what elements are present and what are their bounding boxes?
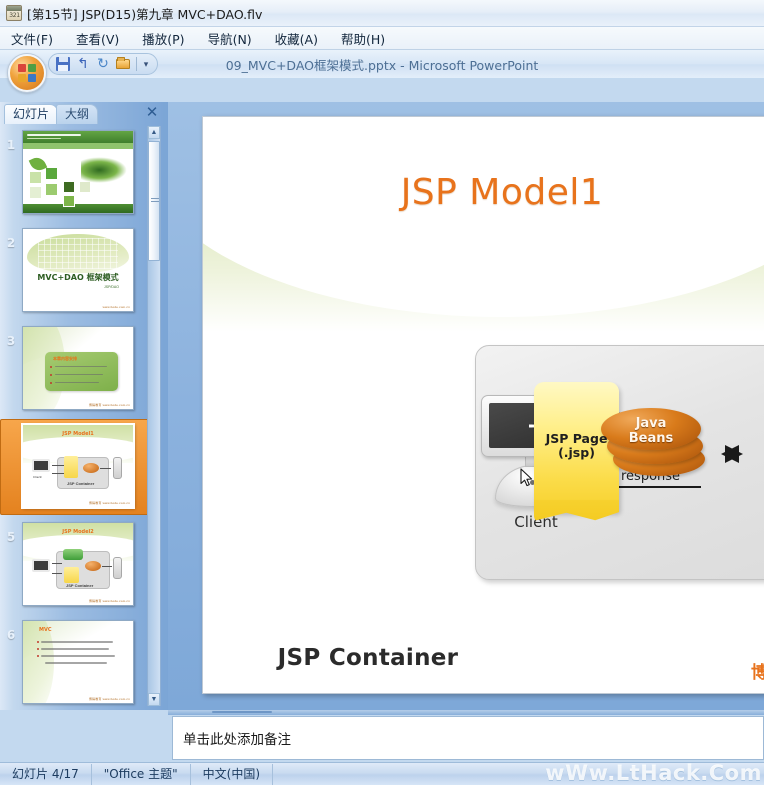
status-slide-counter[interactable]: 幻灯片 4/17 (0, 764, 92, 785)
status-theme[interactable]: "Office 主题" (92, 764, 191, 785)
java-beans-label: Java Beans (601, 416, 701, 446)
redo-button[interactable]: ↻ (94, 55, 112, 73)
menu-navigate[interactable]: 导航(N) (205, 28, 255, 49)
slide-editing-stage: JSP Model1 JSP Container Client (168, 102, 764, 710)
java-beans-line2: Beans (629, 431, 674, 446)
open-folder-icon (116, 59, 130, 69)
thumbnail-title: JSP Model1 (23, 431, 133, 437)
thumbnail-number: 2 (0, 226, 22, 250)
notes-placeholder[interactable]: 单击此处添加备注 (183, 728, 291, 748)
menu-file[interactable]: 文件(F) (8, 28, 56, 49)
thumbnail-number: 4 (0, 422, 22, 446)
powerpoint-main-body: 幻灯片 大纲 ✕ 1 (0, 102, 764, 710)
list-item[interactable]: 6 MVC 博得教育 www.bode.com.cn (0, 618, 152, 710)
redo-icon: ↻ (96, 57, 110, 71)
chevron-down-icon[interactable]: ▾ (141, 55, 151, 73)
video-file-icon (6, 5, 22, 21)
mouse-cursor (520, 468, 534, 488)
undo-button[interactable]: ↰ (74, 55, 92, 73)
slide-thumbnail-selected[interactable]: JSP Model1 JSP Container Client 博得教育 www… (22, 424, 134, 508)
thumbnail-number: 3 (0, 324, 22, 348)
thumbnail-list[interactable]: 1 (0, 124, 168, 710)
application-window: [第15节] JSP(D15)第九章 MVC+DAO.flv 文件(F) 查看(… (0, 0, 764, 785)
java-beans-line1: Java (636, 416, 667, 431)
menu-favorites[interactable]: 收藏(A) (272, 28, 321, 49)
player-menu-bar: 文件(F) 查看(V) 播放(P) 导航(N) 收藏(A) 帮助(H) (0, 27, 764, 50)
slides-panel-scrollbar[interactable]: ▲ ▼ (147, 126, 161, 706)
menu-play[interactable]: 播放(P) (139, 28, 187, 49)
office-orb-icon (18, 64, 36, 82)
java-beans-shape: Java Beans (601, 402, 731, 492)
tab-slides[interactable]: 幻灯片 (4, 104, 58, 124)
jsp-model1-diagram[interactable]: JSP Container Client (203, 117, 764, 693)
player-title-bar: [第15节] JSP(D15)第九章 MVC+DAO.flv (0, 0, 764, 27)
slide-thumbnail[interactable]: MVC+DAO 框架模式 JSP/DAO www.bode.com.cn (22, 228, 134, 312)
slide-thumbnail[interactable]: JSP Model2 JSP Container 博得教育 www.bode.c… (22, 522, 134, 606)
office-orb-button[interactable] (8, 54, 46, 92)
thumbnail-title: MVC (39, 627, 133, 633)
status-language[interactable]: 中文(中国) (191, 764, 273, 785)
list-item[interactable]: 1 (0, 128, 152, 222)
grip-icon (151, 198, 159, 204)
thumbnail-number: 5 (0, 520, 22, 544)
thumbnail-title: JSP Model2 (23, 529, 133, 535)
list-item[interactable]: 2 MVC+DAO 框架模式 JSP/DAO www.bode.com.cn (0, 226, 152, 320)
save-button[interactable] (54, 55, 72, 73)
tab-outline[interactable]: 大纲 (56, 104, 98, 124)
thumbnail-number: 1 (0, 128, 22, 152)
panel-tab-strip: 幻灯片 大纲 ✕ (0, 102, 168, 124)
status-bar: 幻灯片 4/17 "Office 主题" 中文(中国) wWw.LtHack.C… (0, 762, 764, 785)
scroll-down-icon[interactable]: ▼ (148, 693, 160, 706)
close-icon[interactable]: ✕ (143, 103, 161, 121)
site-watermark: wWw.LtHack.Com (545, 761, 762, 785)
quick-access-toolbar: ↰ ↻ ▾ (48, 53, 158, 75)
jsp-page-line1: JSP Page (546, 431, 608, 446)
slides-panel: 幻灯片 大纲 ✕ 1 (0, 102, 168, 710)
open-button[interactable] (114, 55, 132, 73)
menu-view[interactable]: 查看(V) (73, 28, 122, 49)
jsp-page-line2: (.jsp) (558, 445, 595, 460)
thumbnail-title: MVC+DAO 框架模式 (23, 272, 133, 283)
slide-footer-logo: 博得 (751, 658, 764, 683)
list-item[interactable]: 3 本章内容安排 博得教育 www.bod (0, 324, 152, 418)
scrollbar-thumb[interactable] (148, 141, 160, 261)
player-title-text: [第15节] JSP(D15)第九章 MVC+DAO.flv (27, 4, 262, 23)
slide-thumbnail[interactable]: MVC 博得教育 www.bode.com.cn (22, 620, 134, 704)
list-item[interactable]: 5 JSP Model2 JSP Container (0, 520, 152, 614)
notes-pane[interactable]: 单击此处添加备注 (172, 716, 764, 760)
undo-icon: ↰ (76, 57, 90, 71)
thumbnail-number: 6 (0, 618, 22, 642)
notes-splitter[interactable] (168, 710, 764, 715)
save-icon (56, 57, 70, 71)
qat-separator (136, 57, 137, 71)
slide-thumbnail[interactable]: 本章内容安排 博得教育 www.bode.com.cn (22, 326, 134, 410)
slide-canvas[interactable]: JSP Model1 JSP Container Client (202, 116, 764, 694)
list-item[interactable]: 4 JSP Model1 JSP Container Client (0, 422, 152, 516)
scroll-up-icon[interactable]: ▲ (148, 126, 160, 139)
slide-thumbnail[interactable] (22, 130, 134, 214)
menu-help[interactable]: 帮助(H) (338, 28, 388, 49)
